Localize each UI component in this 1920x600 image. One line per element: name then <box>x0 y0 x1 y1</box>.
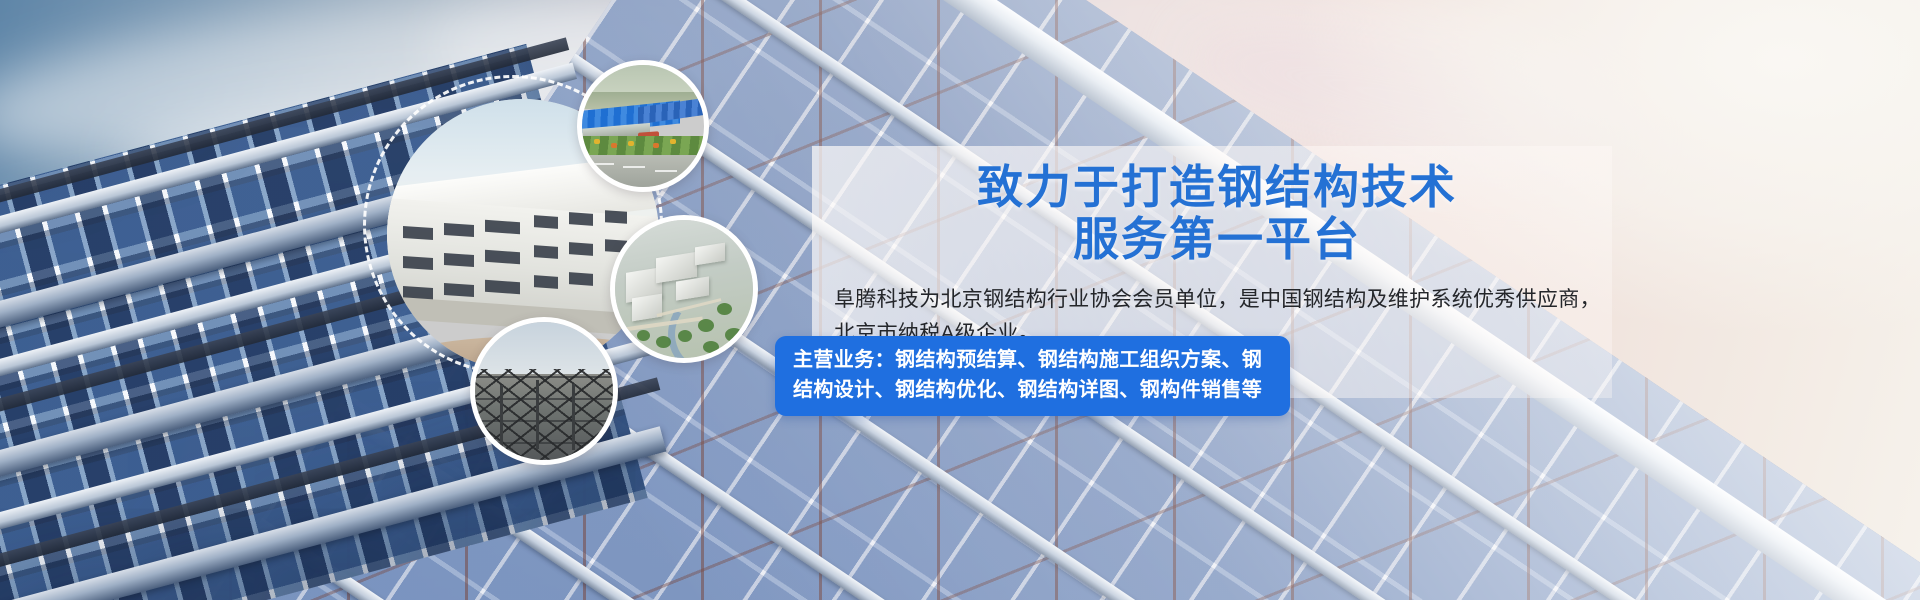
road-marking <box>655 170 677 172</box>
photo-collage <box>355 55 785 505</box>
business-scope-badge: 主营业务：钢结构预结算、钢结构施工组织方案、钢结构设计、钢结构优化、钢结构详图、… <box>775 336 1290 416</box>
building-window <box>534 275 558 289</box>
building-window <box>403 226 433 240</box>
planting-dot <box>670 139 676 144</box>
tree <box>717 303 732 315</box>
headline-line-1: 致力于打造钢结构技术 <box>977 160 1457 214</box>
page-title: 致力于打造钢结构技术 服务第一平台 <box>812 150 1622 265</box>
text-content: 致力于打造钢结构技术 服务第一平台 阜腾科技为北京钢结构行业协会会员单位，是中国… <box>812 150 1622 351</box>
building-window <box>444 223 474 237</box>
truss-column <box>536 380 539 449</box>
building-window <box>534 215 558 229</box>
hero-banner: 致力于打造钢结构技术 服务第一平台 阜腾科技为北京钢结构行业协会会员单位，是中国… <box>0 0 1920 600</box>
collage-photo-campus <box>610 215 758 363</box>
campus-building <box>632 293 662 321</box>
building-window <box>444 253 474 267</box>
collage-photo-steel-truss <box>470 317 618 465</box>
headline-line-2: 服务第一平台 <box>818 214 1616 266</box>
road-marking <box>623 166 645 168</box>
building-window <box>444 283 474 297</box>
planting-dot <box>653 143 659 148</box>
building-window <box>569 272 593 286</box>
planting-dot <box>611 143 617 148</box>
collage-photo-factory <box>577 60 709 192</box>
building-window <box>403 256 433 270</box>
building-window <box>569 212 593 226</box>
road-marking <box>592 163 614 165</box>
truss-column <box>572 384 575 450</box>
space-frame-truss <box>470 369 618 465</box>
parking-lot <box>582 155 704 187</box>
building-window <box>534 245 558 259</box>
planting-dot <box>628 141 634 146</box>
tree <box>725 328 743 342</box>
building-window <box>569 242 593 256</box>
truss-column <box>500 385 503 448</box>
